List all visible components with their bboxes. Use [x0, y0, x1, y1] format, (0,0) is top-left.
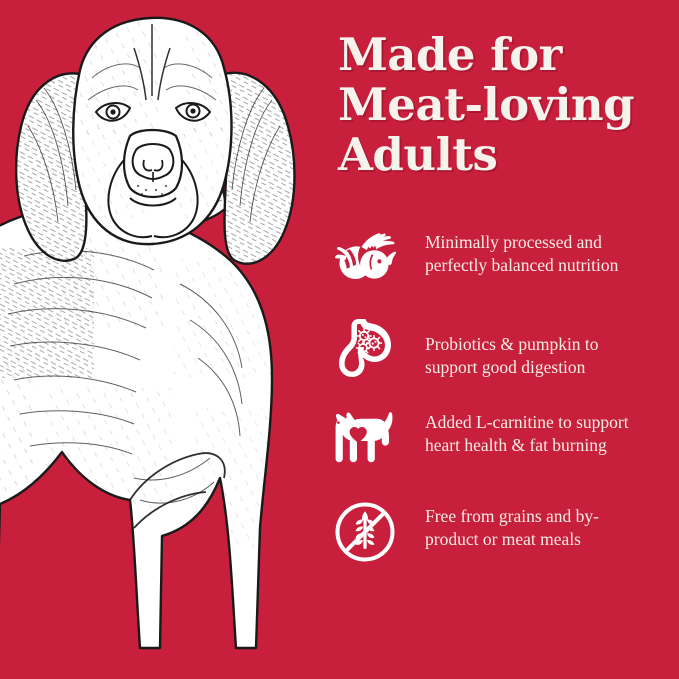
feature-text: Free from grains and by-product or meat …: [425, 500, 635, 551]
headline: Made for Meat-loving Adults: [338, 30, 658, 180]
feature-item: Added L-carnitine to support heart healt…: [333, 406, 673, 490]
dog-eye-left: [96, 103, 130, 121]
dog-eye-right: [176, 103, 210, 121]
dog-muzzle: [124, 130, 182, 197]
product-feature-infographic: Made for Meat-loving Adults: [0, 0, 679, 679]
dog-body: [0, 207, 274, 648]
headline-line-3: Adults: [338, 130, 658, 180]
stomach-probiotics-icon: [333, 316, 397, 380]
dog-ear-right: [214, 66, 306, 278]
dog-illustration: [0, 8, 344, 679]
feature-text: Probiotics & pumpkin to support good dig…: [425, 316, 635, 379]
dog-with-heart-icon: [333, 406, 397, 470]
feature-item: Minimally processed and perfectly balanc…: [333, 228, 673, 306]
headline-line-2: Meat-loving: [338, 80, 658, 130]
feature-list: Minimally processed and perfectly balanc…: [333, 228, 673, 588]
dog-neck: [92, 134, 226, 230]
feature-item: Probiotics & pumpkin to support good dig…: [333, 316, 673, 396]
headline-line-1: Made for: [338, 30, 658, 80]
feature-text: Minimally processed and perfectly balanc…: [425, 228, 635, 277]
no-grain-icon: [333, 500, 397, 564]
dog-head: [70, 16, 240, 244]
feature-text: Added L-carnitine to support heart healt…: [425, 406, 635, 457]
feature-item: Free from grains and by-product or meat …: [333, 500, 673, 578]
shrimp-and-fish-icon: [333, 228, 397, 292]
dog-ear-left: [14, 68, 94, 278]
